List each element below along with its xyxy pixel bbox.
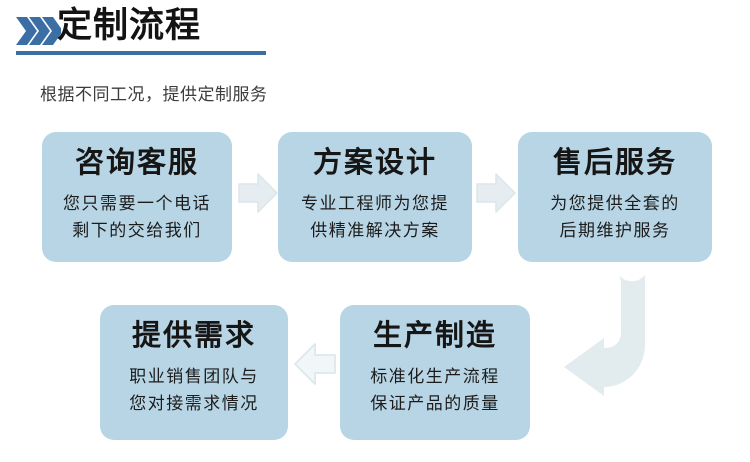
- flow-step-description-line-1: 职业销售团队与: [106, 363, 282, 390]
- triple-chevron-right-icon: [15, 16, 61, 46]
- flow-step-description-line-1: 专业工程师为您提: [284, 190, 466, 217]
- flow-step-card-4[interactable]: 提供需求 职业销售团队与 您对接需求情况: [100, 305, 288, 440]
- arrow-curved-down-left-icon: [560, 272, 665, 397]
- flow-step-description-line-1: 为您提供全套的: [524, 190, 706, 217]
- flow-step-title: 售后服务: [524, 142, 706, 184]
- flow-step-description-line-2: 供精准解决方案: [284, 217, 466, 244]
- flow-step-description: 专业工程师为您提 供精准解决方案: [284, 190, 466, 244]
- flow-step-description-line-1: 标准化生产流程: [346, 363, 524, 390]
- arrow-right-icon: [236, 168, 280, 218]
- flow-step-card-1[interactable]: 咨询客服 您只需要一个电话 剩下的交给我们: [42, 132, 232, 262]
- flow-step-title: 方案设计: [284, 142, 466, 184]
- flow-step-description-line-2: 保证产品的质量: [346, 390, 524, 417]
- flow-step-title: 咨询客服: [48, 142, 226, 184]
- flow-step-description: 职业销售团队与 您对接需求情况: [106, 363, 282, 417]
- flow-step-card-2[interactable]: 方案设计 专业工程师为您提 供精准解决方案: [278, 132, 472, 262]
- title-underline: [16, 51, 266, 55]
- flow-step-card-3[interactable]: 售后服务 为您提供全套的 后期维护服务: [518, 132, 712, 262]
- flow-step-description-line-2: 后期维护服务: [524, 217, 706, 244]
- page-header: 定制流程: [0, 0, 750, 66]
- flow-step-title: 生产制造: [346, 315, 524, 357]
- arrow-left-icon: [292, 338, 338, 390]
- flow-step-description-line-1: 您只需要一个电话: [48, 190, 226, 217]
- flow-step-description-line-2: 您对接需求情况: [106, 390, 282, 417]
- page-title: 定制流程: [57, 4, 201, 48]
- flow-step-title: 提供需求: [106, 315, 282, 357]
- flow-step-description-line-2: 剩下的交给我们: [48, 217, 226, 244]
- arrow-right-icon: [474, 168, 518, 218]
- flow-step-description: 标准化生产流程 保证产品的质量: [346, 363, 524, 417]
- flow-step-card-5[interactable]: 生产制造 标准化生产流程 保证产品的质量: [340, 305, 530, 440]
- flow-step-description: 您只需要一个电话 剩下的交给我们: [48, 190, 226, 244]
- flow-step-description: 为您提供全套的 后期维护服务: [524, 190, 706, 244]
- page-subtitle: 根据不同工况，提供定制服务: [40, 80, 268, 105]
